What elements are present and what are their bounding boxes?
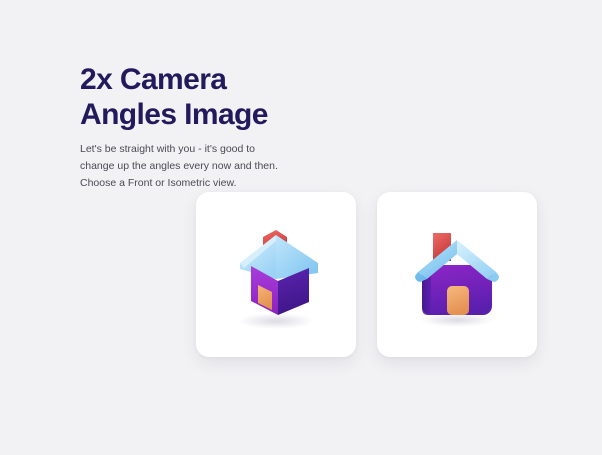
house-isometric-3d-icon <box>214 213 338 337</box>
house-front-3d-icon <box>395 213 519 337</box>
roof-right-plane <box>276 235 318 279</box>
page-title: 2x Camera Angles Image <box>80 62 410 133</box>
ground-shadow <box>420 313 494 327</box>
page-root: 2x Camera Angles Image Let's be straight… <box>0 0 602 455</box>
page-description: Let's be straight with you - it's good t… <box>80 141 325 192</box>
front-view-card[interactable] <box>377 192 537 357</box>
camera-angle-card-group <box>196 192 537 357</box>
isometric-view-card[interactable] <box>196 192 356 357</box>
door-shape <box>447 286 469 315</box>
ground-shadow <box>238 313 314 329</box>
